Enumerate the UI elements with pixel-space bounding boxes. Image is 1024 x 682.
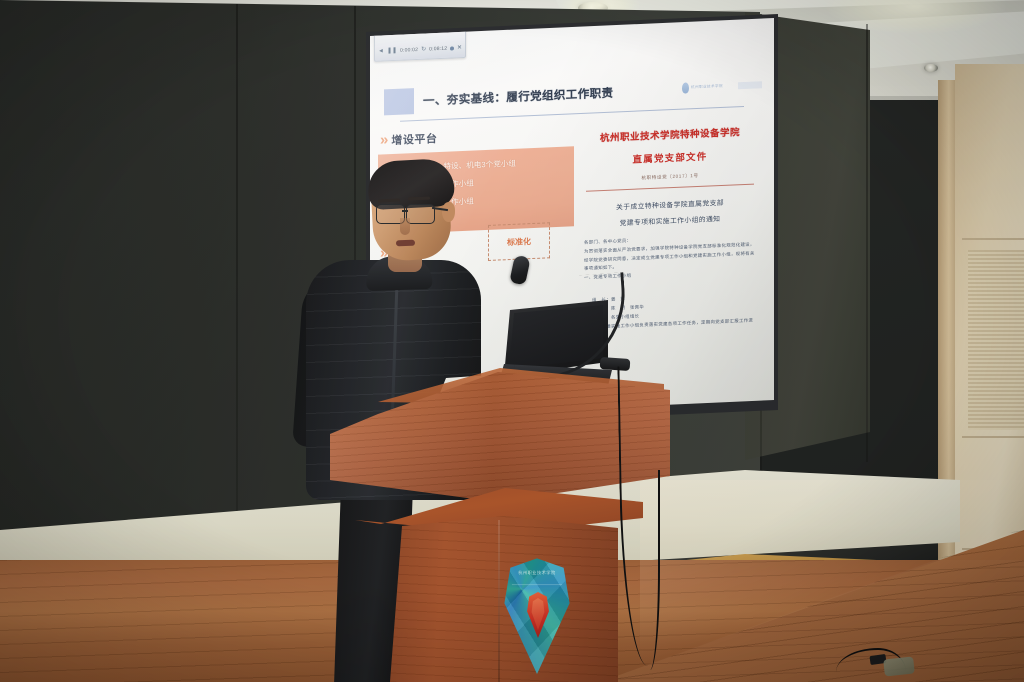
- ceiling-downlight: [924, 64, 938, 72]
- speaker-mouth: [396, 240, 415, 247]
- slide-title-marker: [384, 88, 414, 115]
- logo-bar: [738, 81, 762, 89]
- slide-subtitle: 增设平台: [391, 130, 437, 148]
- eyeglasses-bridge: [402, 210, 408, 212]
- chevron-right-icon: »: [380, 131, 385, 148]
- school-logo: 杭州职业技术学院: [682, 78, 736, 95]
- wall-slat-texture: [968, 250, 1024, 430]
- wall-panel-seam: [236, 4, 238, 524]
- document-divider: [586, 184, 754, 192]
- document-title-line1: 关于成立特种设备学院直属党支部: [576, 195, 764, 213]
- photo-scene: ◄ ❚❚ 0:00:02 ↻ 0:08:12 ✕ 一、夯实基线：履行党组织工作职…: [0, 0, 1024, 682]
- document-org-line: 杭州职业技术学院特种设备学院: [576, 123, 764, 145]
- slide-subtitle-row: » 增设平台: [380, 129, 437, 148]
- eyeglasses-lens-right: [406, 204, 435, 224]
- speaker-nose: [400, 218, 410, 235]
- logo-text: 杭州职业技术学院: [691, 84, 723, 90]
- logo-mark-icon: [682, 82, 689, 93]
- power-adapter: [883, 656, 915, 676]
- document-type-line: 直属党支部文件: [576, 146, 764, 168]
- wall-light-seam: [962, 238, 1024, 240]
- wall-light-seam: [962, 436, 1024, 438]
- document-number: 杭职特设党〔2017〕1号: [576, 170, 764, 184]
- document-title-line2: 党建专项和实施工作小组的通知: [576, 211, 764, 229]
- wall-panel-seam: [866, 24, 868, 462]
- slide-title: 一、夯实基线：履行党组织工作职责: [423, 85, 613, 109]
- speaker-ear: [442, 202, 455, 222]
- emblem-label: 杭州职业技术学院: [508, 570, 566, 576]
- power-cable-lower: [640, 470, 660, 670]
- school-emblem: 杭州职业技术学院: [500, 556, 574, 674]
